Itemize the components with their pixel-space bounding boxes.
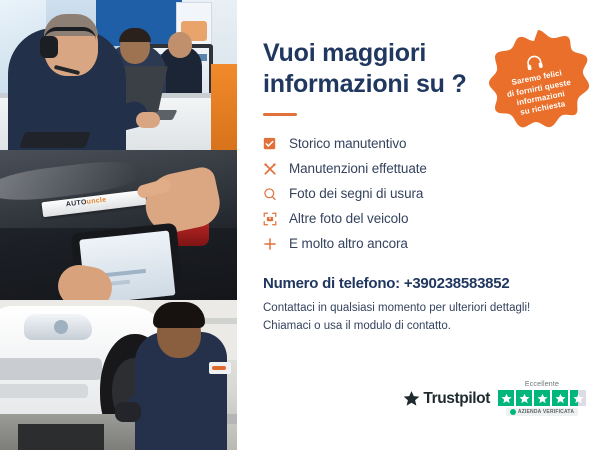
orange-divider-strip [211, 64, 237, 150]
photo-column: AUTOuncle [0, 0, 237, 450]
uniform-logo-badge [209, 362, 231, 374]
plus-icon [263, 237, 289, 251]
callout-badge: Saremo felici di fornirti queste informa… [482, 28, 594, 140]
car-grille-lower [0, 384, 88, 398]
trustpilot-brand: Trustpilot [403, 390, 490, 408]
feature-label: Storico manutentivo [289, 136, 406, 151]
verified-label: AZIENDA VERIFICATA [518, 409, 574, 415]
page-title: Vuoi maggiori informazioni su ? [263, 38, 473, 99]
star-box-half [570, 390, 586, 406]
advert-card: AUTOuncle [0, 0, 600, 450]
checkbox-checked-icon [263, 137, 289, 150]
feature-list: Storico manutentivo Manutenzioni effettu… [263, 131, 574, 256]
feature-label: Altre foto del veicolo [289, 211, 408, 226]
star-box [534, 390, 550, 406]
verified-check-icon [510, 409, 516, 415]
feature-item-altre-foto: Altre foto del veicolo [263, 206, 574, 231]
agent-three-head [168, 32, 192, 58]
star-box [552, 390, 568, 406]
badge-content: Saremo felici di fornirti queste informa… [472, 18, 600, 149]
feature-item-altro-ancora: E molto altro ancora [263, 231, 574, 256]
trustpilot-rating: Eccellente [498, 381, 586, 416]
call-centre-agents-photo [0, 0, 237, 150]
bumper-inspection-photo: AUTOuncle [0, 150, 237, 300]
headset-icon [523, 52, 545, 74]
measuring-strip-logo: AUTOuncle [66, 196, 107, 208]
car-grille-upper [0, 358, 102, 380]
rating-label: Eccellente [525, 381, 559, 388]
star-row [498, 390, 586, 406]
lift-shadow [18, 424, 104, 450]
mechanic-hair [153, 302, 205, 328]
feature-label: E molto altro ancora [289, 236, 408, 251]
contact-instructions: Contattaci in qualsiasi momento per ulte… [263, 300, 574, 336]
desk-tablet [19, 132, 91, 148]
phone-number-line[interactable]: Numero di telefono: +390238583852 [263, 275, 574, 292]
contact-line-2: Chiamaci o usa il modulo di contatto. [263, 318, 574, 336]
photo-frame-icon [263, 212, 289, 226]
verified-company-badge: AZIENDA VERIFICATA [506, 408, 578, 416]
star-box [516, 390, 532, 406]
headset-earcup [40, 36, 58, 58]
trustpilot-name: Trustpilot [423, 390, 490, 408]
tools-cross-icon [263, 162, 289, 176]
magnifier-icon [263, 187, 289, 201]
feature-item-manutenzioni: Manutenzioni effettuate [263, 156, 574, 181]
agent-one-hand [136, 112, 160, 128]
feature-item-foto-usura: Foto dei segni di usura [263, 181, 574, 206]
trustpilot-widget[interactable]: Trustpilot Eccellente [403, 381, 586, 416]
content-panel: Vuoi maggiori informazioni su ? Storico … [237, 0, 600, 450]
headlight-lens [54, 320, 68, 334]
contact-line-1: Contattaci in qualsiasi momento per ulte… [263, 300, 574, 318]
title-underline-rule [263, 113, 297, 116]
feature-label: Foto dei segni di usura [289, 186, 423, 201]
car-on-lift-photo [0, 300, 237, 450]
trustpilot-star-icon [403, 390, 420, 407]
mechanic-glove [115, 402, 141, 422]
feature-label: Manutenzioni effettuate [289, 161, 427, 176]
star-box [498, 390, 514, 406]
